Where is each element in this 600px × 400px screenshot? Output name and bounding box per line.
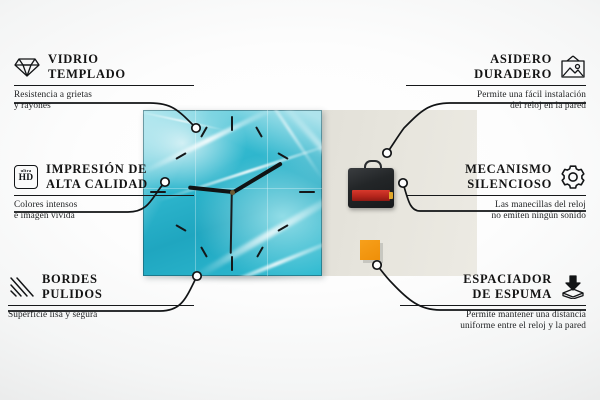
feature-desc-line1: Permite una fácil instalación <box>406 90 586 101</box>
feature-title-line2: SILENCIOSO <box>465 177 552 192</box>
feature-desc-line1: Colores intensos <box>14 200 194 211</box>
dot-vidrio-templado <box>192 124 200 132</box>
feature-desc-line1: Las manecillas del reloj <box>406 200 586 211</box>
feature-desc-line1: Resistencia a grietas <box>14 90 194 101</box>
feature-title-line1: BORDES <box>42 272 102 287</box>
feature-espaciador-de-espuma: ESPACIADOR DE ESPUMA Permite mantener un… <box>400 272 586 333</box>
arrow-down-pad-icon <box>560 275 586 299</box>
feature-title-line2: DURADERO <box>474 67 552 82</box>
feature-title-line2: DE ESPUMA <box>463 287 552 302</box>
ultra-hd-badge-icon: ultraHD <box>14 165 38 189</box>
picture-frame-hanger-icon <box>560 55 586 79</box>
feature-title-line2: TEMPLADO <box>48 67 126 82</box>
feature-title-line1: MECANISMO <box>465 162 552 177</box>
feature-desc-line2: uniforme entre el reloj y la pared <box>400 321 586 332</box>
feature-divider <box>400 305 586 306</box>
feature-desc-line1: Superficie lisa y segura <box>8 310 194 321</box>
feature-bordes-pulidos: BORDES PULIDOS Superficie lisa y segura <box>8 272 194 321</box>
feature-title-line2: ALTA CALIDAD <box>46 177 148 192</box>
infographic-canvas: VIDRIO TEMPLADO Resistencia a grietas y … <box>0 0 600 400</box>
feature-divider <box>14 195 194 196</box>
feature-desc-line2: e imagen vívida <box>14 211 194 222</box>
dot-bordes <box>193 272 201 280</box>
feature-divider <box>8 305 194 306</box>
feature-divider <box>14 85 194 86</box>
dot-espaciador <box>373 261 381 269</box>
diagonal-stripes-icon <box>8 276 34 298</box>
feature-title-line2: PULIDOS <box>42 287 102 302</box>
gear-icon <box>560 164 586 190</box>
feature-desc-line1: Permite mantener una distancia <box>400 310 586 321</box>
feature-title-line1: IMPRESIÓN DE <box>46 162 148 177</box>
feature-desc-line2: no emiten ningún sonido <box>406 211 586 222</box>
feature-divider <box>406 195 586 196</box>
feature-impresion-alta-calidad: ultraHD IMPRESIÓN DE ALTA CALIDAD Colore… <box>14 162 194 223</box>
dot-asidero <box>383 149 391 157</box>
feature-desc-line2: del reloj en la pared <box>406 101 586 112</box>
feature-mecanismo-silencioso: MECANISMO SILENCIOSO Las manecillas del … <box>406 162 586 223</box>
feature-asidero-duradero: ASIDERO DURADERO Permite una fácil insta… <box>406 52 586 113</box>
feature-desc-line2: y rayones <box>14 101 194 112</box>
feature-vidrio-templado: VIDRIO TEMPLADO Resistencia a grietas y … <box>14 52 194 113</box>
feature-title-line1: ESPACIADOR <box>463 272 552 287</box>
diamond-icon <box>14 56 40 78</box>
feature-title-line1: VIDRIO <box>48 52 126 67</box>
feature-title-line1: ASIDERO <box>474 52 552 67</box>
feature-divider <box>406 85 586 86</box>
